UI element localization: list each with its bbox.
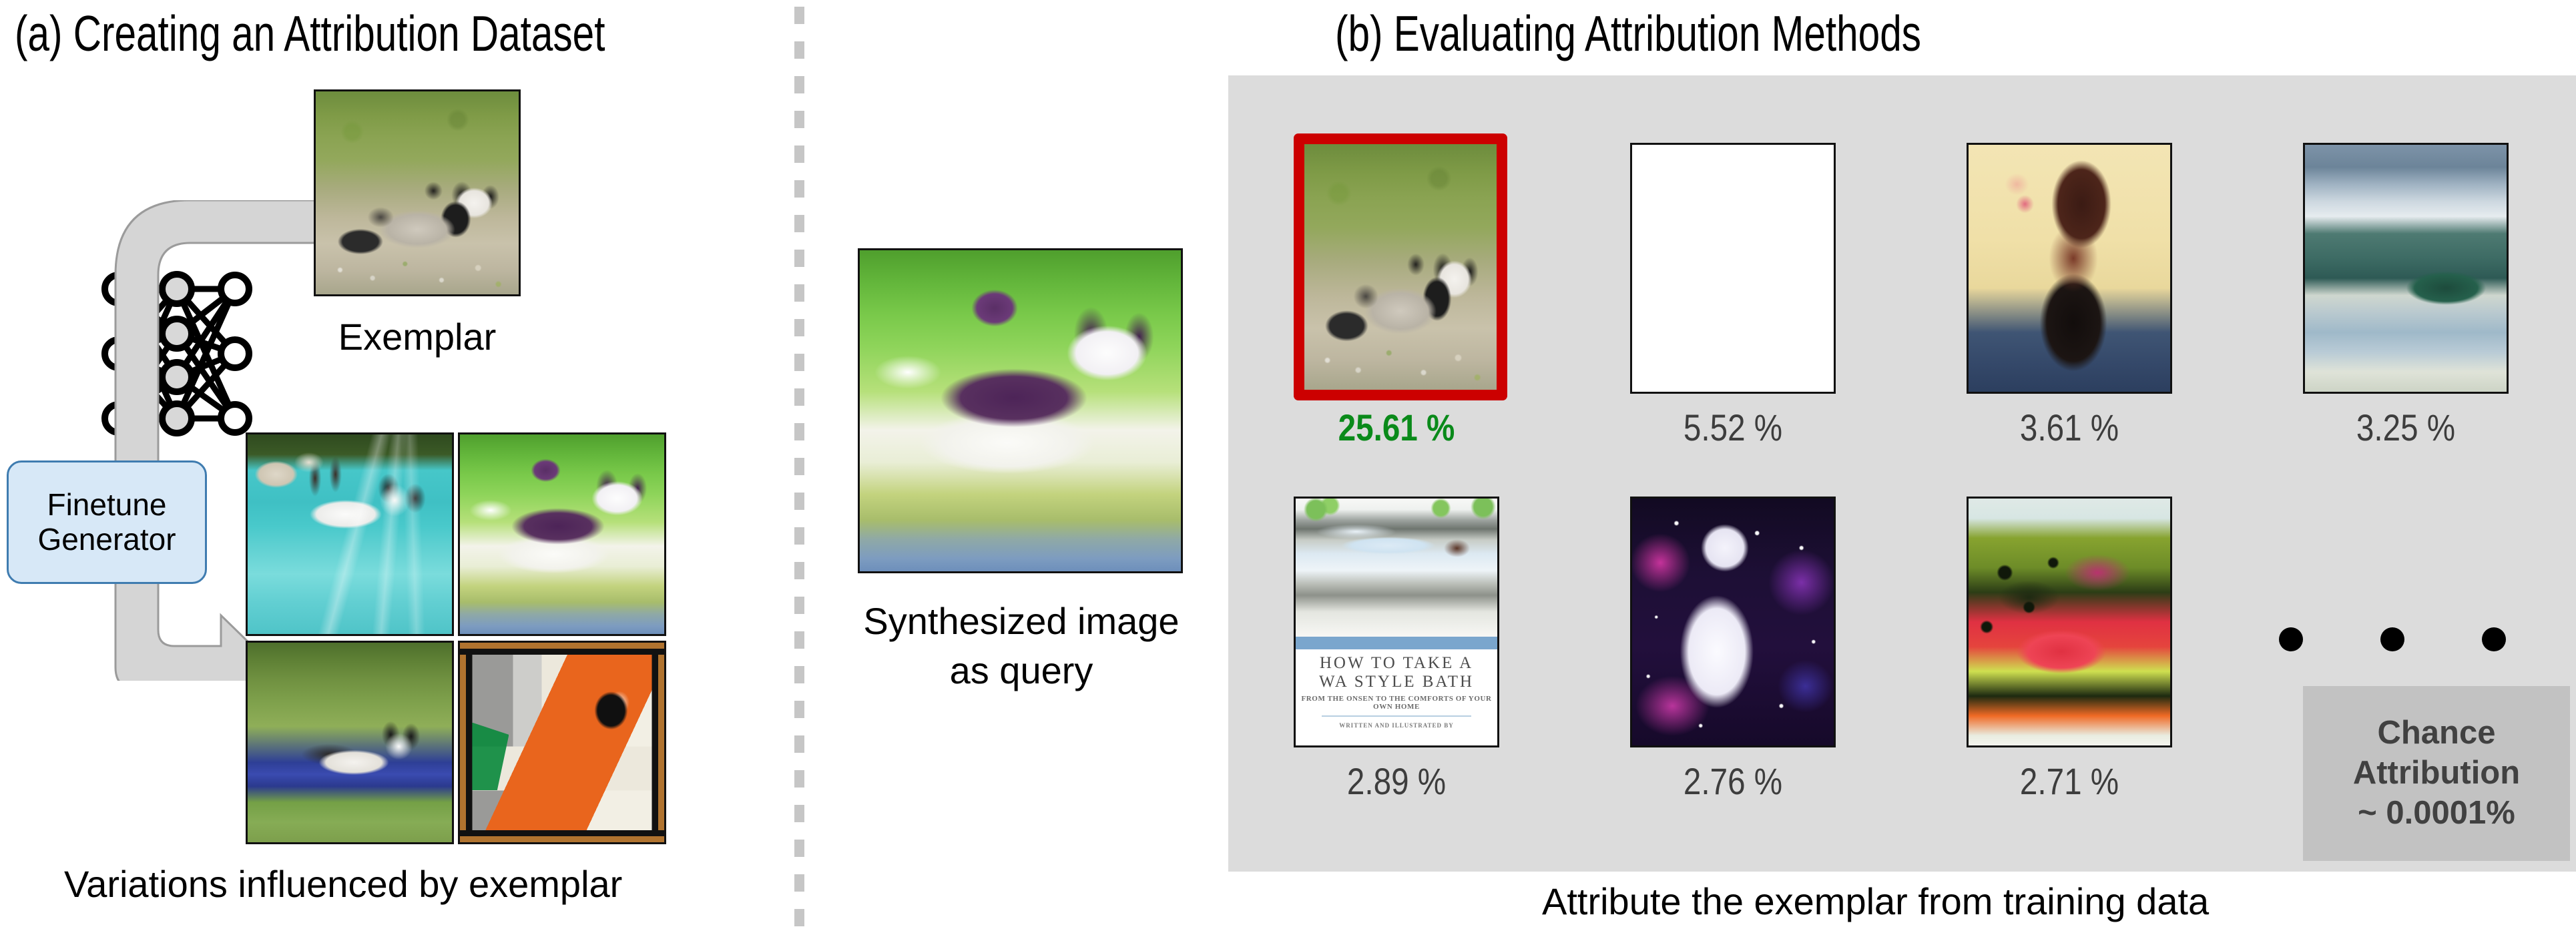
result-item-3[interactable]: 3.61 %: [1936, 133, 2203, 447]
book-rule: [1322, 715, 1471, 717]
finetune-line1: Finetune: [47, 488, 166, 523]
book-subtitle: FROM THE ONSEN TO THE COMFORTS OF YOUR O…: [1296, 695, 1497, 711]
result-item-4[interactable]: 3.25 %: [2272, 133, 2539, 447]
result-image-2: [1630, 143, 1836, 394]
book-cover-text: HOW TO TAKE A WA STYLE BATH FROM THE ONS…: [1296, 654, 1497, 729]
ellipsis-dot-1: [2279, 627, 2303, 651]
exemplar-caption: Exemplar: [314, 315, 521, 358]
ellipsis-dots: [2270, 627, 2523, 654]
book-title-line1: HOW TO TAKE A: [1296, 654, 1497, 673]
panel-b-title: (b) Evaluating Attribution Methods: [1335, 5, 1921, 62]
chance-line3: ~ 0.0001%: [2358, 794, 2515, 834]
result-score-1: 25.61 %: [1283, 406, 1510, 449]
finetune-line2: Generator: [37, 523, 176, 557]
result-score-4: 3.25 %: [2292, 406, 2519, 449]
book-band: [1296, 637, 1497, 649]
result-item-6[interactable]: 2.76 %: [1599, 487, 1866, 801]
chance-line1: Chance: [2377, 713, 2495, 753]
result-score-6: 2.76 %: [1619, 759, 1846, 803]
variation-image-4: [458, 641, 666, 844]
variation-image-2: [458, 432, 666, 636]
exemplar-image: [314, 89, 521, 296]
result-item-2[interactable]: 5.52 %: [1599, 133, 1866, 447]
result-score-2: 5.52 %: [1619, 406, 1846, 449]
result-image-1: [1294, 133, 1507, 400]
query-caption-line2: as query: [824, 649, 1218, 692]
book-byline: WRITTEN AND ILLUSTRATED BY: [1296, 722, 1497, 729]
synthesized-query-image: [858, 248, 1183, 573]
ellipsis-dot-2: [2380, 627, 2404, 651]
result-image-4: [2303, 143, 2509, 394]
result-item-5[interactable]: HOW TO TAKE A WA STYLE BATH FROM THE ONS…: [1263, 487, 1530, 801]
book-title-line2: WA STYLE BATH: [1296, 673, 1497, 691]
result-image-7: [1967, 497, 2172, 747]
book-illustration: [1296, 499, 1497, 637]
panel-a-title: (a) Creating an Attribution Dataset: [15, 5, 605, 62]
result-item-7[interactable]: 2.71 %: [1936, 487, 2203, 801]
finetune-generator-box: Finetune Generator: [7, 460, 207, 584]
result-image-3: [1967, 143, 2172, 394]
ellipsis-dot-3: [2482, 627, 2506, 651]
query-caption-line1: Synthesized image: [824, 599, 1218, 643]
result-score-7: 2.71 %: [1956, 759, 2183, 803]
panel-divider: [794, 7, 804, 931]
result-item-1[interactable]: 25.61 %: [1263, 133, 1530, 447]
result-score-3: 3.61 %: [1956, 406, 2183, 449]
chance-attribution-box: Chance Attribution ~ 0.0001%: [2303, 686, 2570, 861]
variation-image-1: [246, 432, 454, 636]
variations-caption: Variations influenced by exemplar: [64, 862, 622, 906]
result-image-6: [1630, 497, 1836, 747]
chance-line2: Attribution: [2353, 753, 2520, 794]
result-score-5: 2.89 %: [1283, 759, 1510, 803]
variation-image-3: [246, 641, 454, 844]
result-image-5: HOW TO TAKE A WA STYLE BATH FROM THE ONS…: [1294, 497, 1499, 747]
panel-b-footer-caption: Attribute the exemplar from training dat…: [1542, 880, 2209, 923]
